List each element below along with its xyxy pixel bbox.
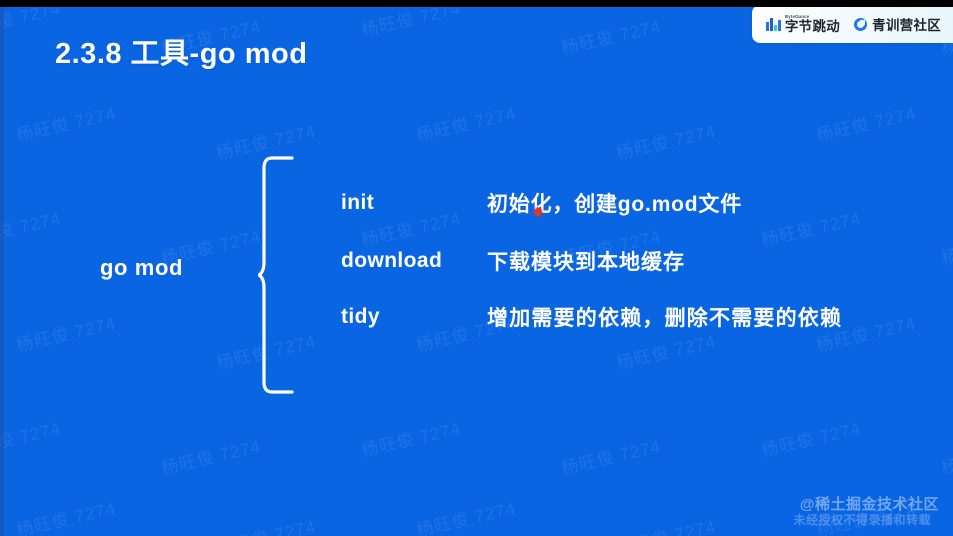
diagram-row-download: download 下载模块到本地缓存: [341, 244, 941, 278]
command-description-download: 下载模块到本地缓存: [487, 246, 685, 276]
ring-icon: [854, 18, 867, 31]
bar-chart-icon: [766, 18, 781, 31]
command-label-tidy: tidy: [341, 305, 487, 329]
command-description-init: 初始化，创建go.mod文件: [487, 188, 742, 218]
diagram-row-tidy: tidy 增加需要的依赖，删除不需要的依赖: [341, 300, 941, 334]
community-logo: 青训营社区: [854, 14, 941, 34]
bytedance-logo: ByteDance 字节跳动: [766, 15, 840, 34]
command-description-tidy: 增加需要的依赖，删除不需要的依赖: [487, 302, 842, 332]
curly-brace-icon: [258, 155, 298, 395]
page-title: 2.3.8 工具-go mod: [55, 30, 307, 72]
letterbox-left-edge: [0, 7, 4, 536]
letterbox-top-bar: [0, 0, 953, 7]
slide-canvas: 杨旺俊 7274杨旺俊 7274杨旺俊 7274杨旺俊 7274杨旺俊 7274…: [0, 0, 953, 536]
corner-watermark: @稀土掘金技术社区: [800, 493, 939, 514]
command-label-init: init: [341, 191, 487, 215]
diagram-rows: init 初始化，创建go.mod文件 download 下载模块到本地缓存 t…: [0, 0, 953, 536]
diagram-row-init: init 初始化，创建go.mod文件: [341, 186, 941, 220]
community-label: 青训营社区: [872, 14, 941, 34]
brand-logo-panel: ByteDance 字节跳动 青训营社区: [752, 5, 953, 43]
bytedance-cn-label: 字节跳动: [785, 20, 840, 34]
cursor-pointer-dot: [534, 208, 542, 216]
go-mod-diagram: go mod init 初始化，创建go.mod文件 download 下载模块…: [0, 0, 953, 536]
command-label-download: download: [341, 249, 487, 273]
